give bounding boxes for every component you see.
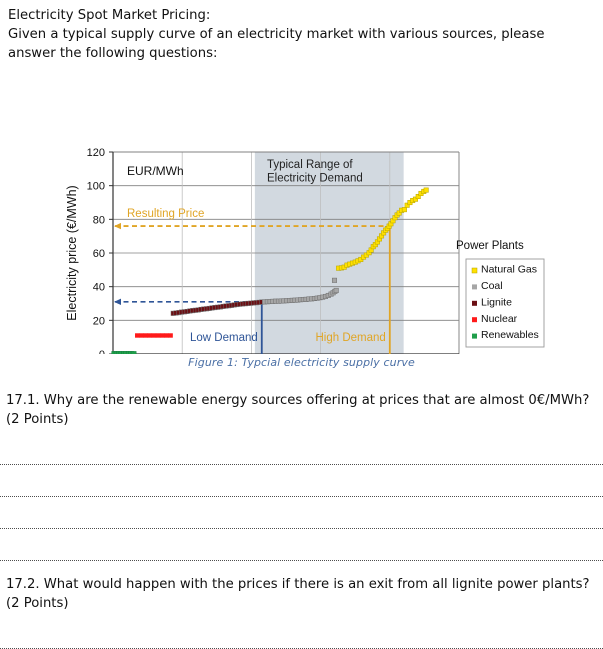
y-axis-tick-label: 0 — [99, 349, 105, 354]
answer-line[interactable] — [0, 433, 603, 465]
question-17-2: 17.2. What would happen with the prices … — [0, 575, 603, 613]
y-axis-tick-label: 120 — [87, 147, 105, 159]
typical-range-label: Electricity Demand — [267, 173, 363, 185]
answer-lines-17-1[interactable] — [0, 433, 603, 561]
data-point — [168, 333, 173, 337]
legend-swatch-renewables — [472, 334, 477, 339]
legend-label-lignite: Lignite — [481, 296, 512, 308]
data-point — [139, 333, 144, 337]
supply-curve-chart: 020406080100120020406080100Electricity p… — [0, 69, 603, 354]
data-point — [334, 288, 339, 293]
data-point — [147, 333, 152, 337]
answer-line[interactable] — [0, 497, 603, 529]
intro-text-block: Electricity Spot Market Pricing: Given a… — [0, 0, 603, 63]
high-demand-label: High Demand — [315, 332, 385, 344]
supply-curve-figure: 020406080100120020406080100Electricity p… — [0, 69, 603, 354]
answer-line[interactable] — [0, 465, 603, 497]
legend-swatch-coal — [472, 284, 477, 289]
series-nuclear — [135, 333, 173, 337]
y-axis-tick-label: 60 — [93, 248, 105, 260]
question-17-1-text: 17.1. Why are the renewable energy sourc… — [6, 391, 597, 410]
data-point — [332, 278, 337, 283]
legend-label-coal: Coal — [481, 280, 503, 292]
y-axis-title: Electricity price (€/MWh) — [65, 185, 79, 320]
data-point — [143, 333, 148, 337]
data-point — [402, 207, 407, 212]
y-axis-tick-label: 40 — [93, 282, 105, 294]
data-point — [135, 333, 140, 337]
question-17-2-text: 17.2. What would happen with the prices … — [6, 575, 597, 594]
legend-label-renewables: Renewables — [481, 329, 539, 341]
answer-line[interactable] — [0, 617, 603, 649]
question-17-2-points: (2 Points) — [6, 594, 597, 613]
series-renewables — [112, 351, 137, 354]
answer-lines-17-2[interactable] — [0, 617, 603, 649]
legend-swatch-lignite — [472, 301, 477, 306]
resulting-price-label: Resulting Price — [127, 208, 204, 220]
question-17-1: 17.1. Why are the renewable energy sourc… — [0, 391, 603, 429]
data-point — [156, 333, 161, 337]
legend-label-natural-gas: Natural Gas — [481, 264, 537, 276]
y-axis-tick-label: 80 — [93, 214, 105, 226]
legend-swatch-nuclear — [472, 317, 477, 322]
question-17-1-points: (2 Points) — [6, 410, 597, 429]
data-point — [424, 188, 429, 193]
legend-label-nuclear: Nuclear — [481, 313, 518, 325]
legend-title: Power Plants — [456, 240, 524, 252]
y-axis-tick-label: 100 — [87, 181, 105, 193]
data-point — [131, 351, 136, 354]
typical-range-label: Typical Range of — [267, 159, 353, 171]
answer-line[interactable] — [0, 529, 603, 561]
intro-line-1: Electricity Spot Market Pricing: — [8, 6, 595, 25]
intro-line-3: answer the following questions: — [8, 44, 595, 63]
intro-line-2: Given a typical supply curve of an elect… — [8, 25, 595, 44]
data-point — [160, 333, 165, 337]
unit-annotation: EUR/MWh — [127, 164, 184, 178]
low-demand-label: Low Demand — [190, 332, 258, 344]
y-axis-tick-label: 20 — [93, 315, 105, 327]
data-point — [164, 333, 169, 337]
legend-swatch-natural-gas — [472, 268, 477, 273]
data-point — [152, 333, 157, 337]
figure-caption: Figure 1: Typcial electricity supply cur… — [0, 356, 603, 369]
